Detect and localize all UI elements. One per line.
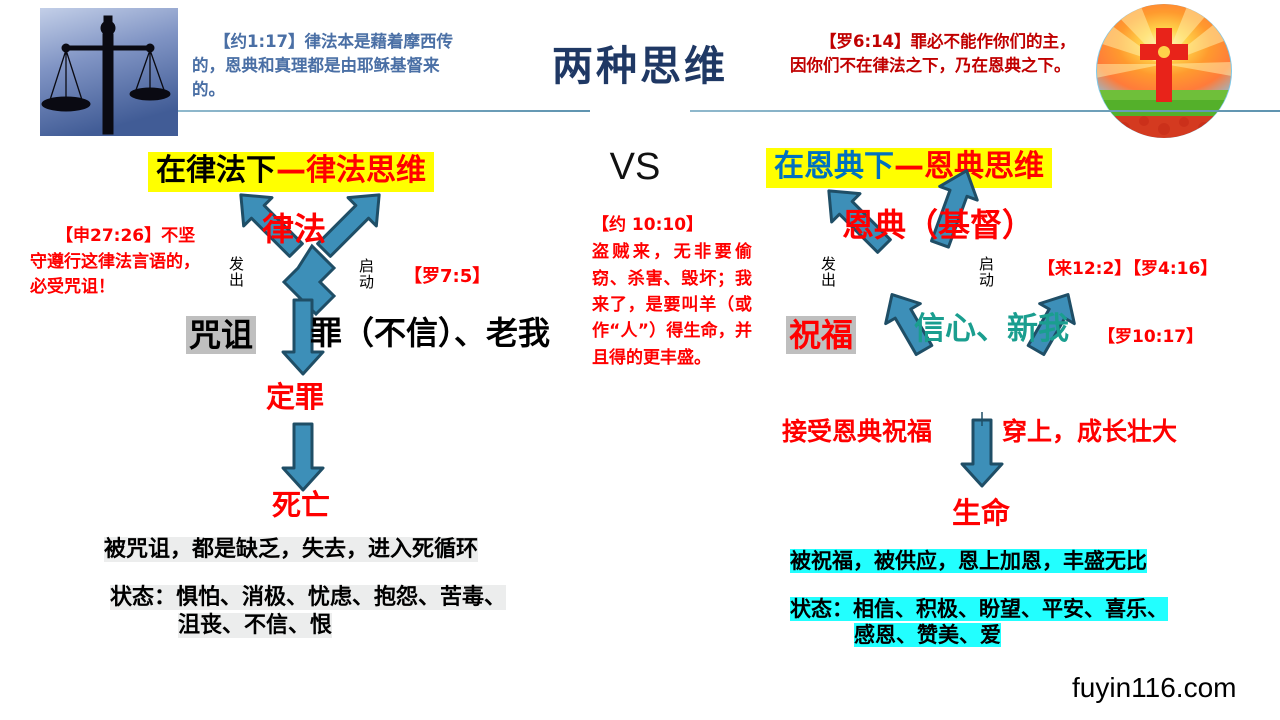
ref-john-10-10: 【约 10:10】 <box>592 212 752 238</box>
summary-law-state-line1: 状态：惧怕、消极、忧虑、抱怨、苦毒、 <box>110 585 506 610</box>
node-curse: 咒诅 <box>186 318 256 353</box>
summary-grace-state-line1: 状态：相信、积极、盼望、平安、喜乐、 <box>790 597 1168 621</box>
verse-john-10-10: 【约 10:10】盗贼来，无非要偷窃、杀害、毁坏；我来了，是要叫羊（或作“人”）… <box>592 212 752 371</box>
balance-scales-image <box>40 8 178 136</box>
summary-law-state-line2: 沮丧、不信、恨 <box>110 612 506 640</box>
heading-under-law-primary: 在律法下 <box>156 153 276 188</box>
verse-john-10-10-text: 盗贼来，无非要偷窃、杀害、毁坏；我来了，是要叫羊（或作“人”）得生命，并且得的更… <box>592 242 752 367</box>
node-faith-new-self: 信心、新我 <box>914 312 1069 346</box>
verse-romans-6-14: 【罗6:14】罪必不能作你们的主，因你们不在律法之下，乃在恩典之下。 <box>790 30 1078 78</box>
ref-romans-10-17: 【罗10:17】 <box>1098 322 1203 347</box>
header-divider-left <box>178 110 590 112</box>
site-watermark: fuyin116.com <box>1072 672 1236 704</box>
heading-under-law: 在律法下—律法思维 <box>148 152 434 192</box>
node-put-on-grow: 穿上，成长壮大 <box>1002 418 1177 446</box>
summary-grace-line1: 被祝福，被供应，恩上加恩，丰盛无比 <box>790 548 1147 574</box>
ref-deuteronomy-27-26: 【申27:26】不坚守遵行这律法言语的，必受咒诅！ <box>30 224 210 301</box>
cross-sunrise-image <box>1096 4 1232 138</box>
heading-under-grace-accent: —恩典思维 <box>894 149 1044 184</box>
node-law: 律法 <box>262 212 326 247</box>
summary-grace-state-line2: 感恩、赞美、爱 <box>790 622 1168 648</box>
node-receive-blessing: 接受恩典祝福 <box>782 418 932 446</box>
ref-romans-4-16: 【罗4:16】 <box>1124 254 1217 279</box>
arrow-label-trigger-left: 启动 <box>358 258 375 290</box>
arrow-label-trigger-right: 启动 <box>978 256 995 288</box>
heading-under-grace: 在恩典下—恩典思维 <box>766 148 1052 188</box>
node-blessing: 祝福 <box>786 318 856 353</box>
summary-grace-state: 状态：相信、积极、盼望、平安、喜乐、 感恩、赞美、爱 <box>790 596 1168 649</box>
verse-john-1-17: 【约1:17】律法本是藉着摩西传的，恩典和真理都是由耶稣基督来的。 <box>192 30 458 102</box>
ref-romans-7-5: 【罗7:5】 <box>404 262 490 288</box>
slide-canvas: 两种思维 【约1:17】律法本是藉着摩西传的，恩典和真理都是由耶稣基督来的。 【… <box>0 0 1280 720</box>
node-grace: 恩典（基督） <box>842 208 1034 243</box>
ref-hebrews-12-2: 【来12:2】 <box>1038 254 1131 279</box>
arrow-law-to-curse <box>284 246 334 314</box>
arrow-label-issue-right: 发出 <box>820 256 837 288</box>
page-title: 两种思维 <box>480 32 800 92</box>
vs-label: VS <box>590 146 680 189</box>
header-divider-right <box>690 110 1280 112</box>
summary-law-line1: 被咒诅，都是缺乏，失去，进入死循环 <box>104 536 478 564</box>
node-life: 生命 <box>952 498 1010 530</box>
node-death: 死亡 <box>272 490 330 522</box>
heading-under-grace-primary: 在恩典下 <box>774 149 894 184</box>
heading-under-law-accent: —律法思维 <box>276 153 426 188</box>
node-sin: 罪（不信）、老我 <box>310 316 550 351</box>
node-condemnation: 定罪 <box>266 382 324 414</box>
arrow-label-issue-left: 发出 <box>228 256 245 288</box>
summary-law-state: 状态：惧怕、消极、忧虑、抱怨、苦毒、 沮丧、不信、恨 <box>110 584 506 639</box>
